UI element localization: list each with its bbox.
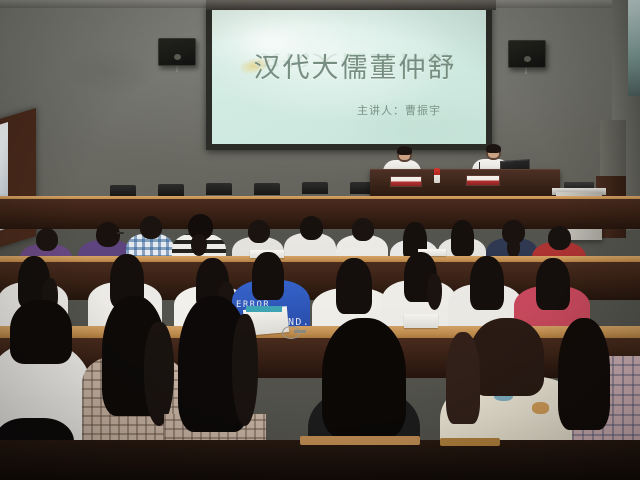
wall-speaker-right-icon: [508, 40, 546, 68]
person-hair: [336, 258, 372, 314]
person-hair: [507, 238, 520, 258]
person-ponytail: [144, 322, 174, 426]
slide-subtitle: 主讲人：曹振宇: [324, 102, 474, 118]
person-hair: [10, 300, 72, 364]
person-head: [548, 226, 571, 250]
person-head: [300, 216, 323, 240]
water-bottle: [434, 168, 440, 183]
person-hair: [252, 252, 284, 300]
person-hair-strand: [446, 332, 480, 424]
person-hair: [470, 256, 504, 310]
right-wall-panel: [600, 120, 626, 180]
lecture-hall-photo: 汉代大儒董仲舒 汉代大儒董仲舒 主讲人：曹振宇: [0, 0, 640, 480]
person-head: [96, 222, 120, 247]
glasses-icon: [117, 232, 124, 234]
blouse-print-motif: [532, 402, 549, 414]
person-hair: [191, 234, 207, 256]
desk-paper: [404, 314, 438, 328]
person-head: [248, 220, 270, 243]
person-head: [140, 216, 162, 239]
window-glass-right: [628, 0, 640, 96]
person-hair: [536, 258, 570, 310]
presenter-left-hair: [397, 146, 412, 155]
slide-title: 汉代大儒董仲舒: [230, 46, 480, 85]
person-head: [36, 228, 58, 251]
person-ponytail: [427, 274, 442, 310]
desk-top-foreground: [300, 436, 420, 445]
projection-screen-surface: 汉代大儒董仲舒 汉代大儒董仲舒 主讲人：曹振宇: [212, 10, 486, 144]
projection-screen-bezel: [206, 0, 496, 10]
wall-speaker-left-icon: [158, 38, 196, 66]
person-hair: [451, 220, 474, 256]
desk-top-foreground: [440, 438, 500, 446]
name-placard-left: [390, 176, 422, 187]
key-icon: [294, 330, 306, 333]
name-placard-right: [466, 175, 500, 186]
chairback: [254, 183, 280, 195]
chairback: [302, 182, 328, 194]
person-head: [352, 218, 374, 241]
presenter-right-hair: [486, 144, 501, 153]
desk-front-foreground: [0, 440, 640, 480]
person-ponytail: [232, 314, 258, 426]
chairback: [158, 184, 184, 196]
chairback: [206, 183, 232, 195]
desk-notebook-band: [246, 306, 282, 312]
person-hair: [322, 318, 406, 438]
person-hair: [558, 318, 610, 430]
person-hair: [470, 318, 544, 396]
